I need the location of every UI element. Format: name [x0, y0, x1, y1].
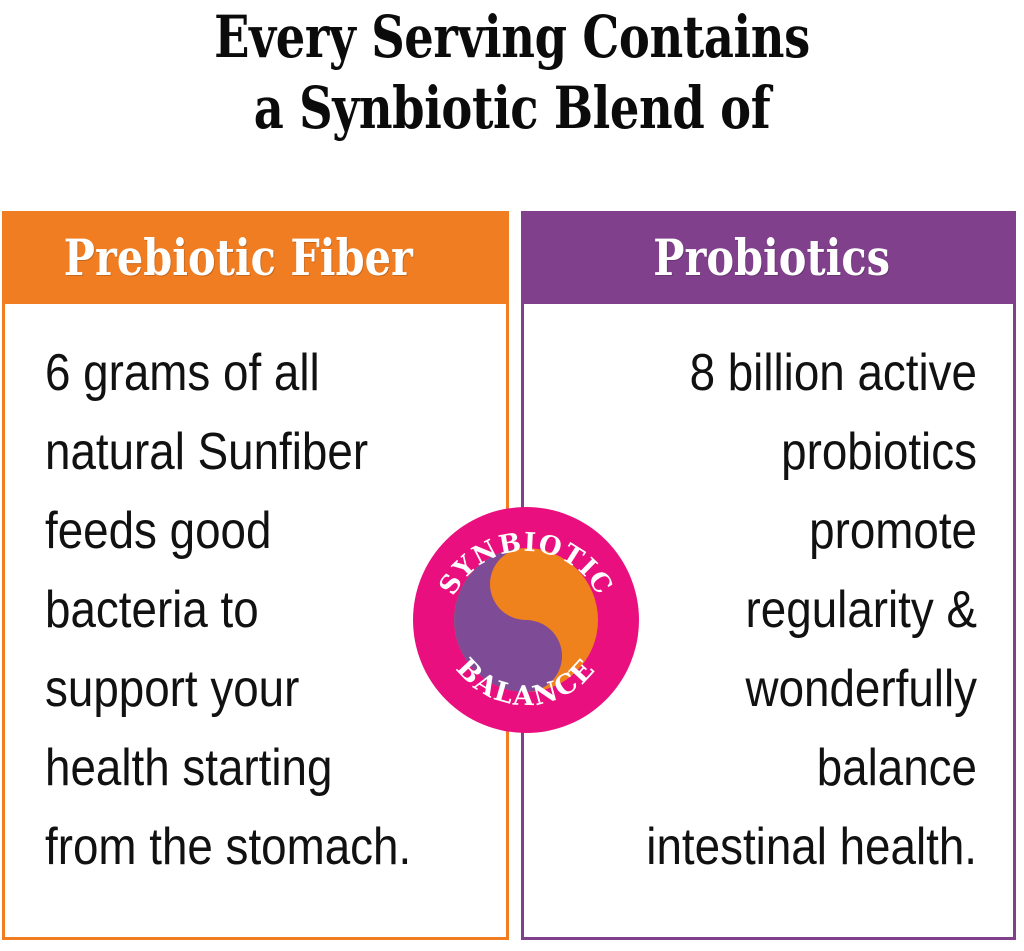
panel-probiotic-body-text: 8 billion active probiotics promote regu…	[584, 334, 977, 887]
title-line-2: a Synbiotic Blend of	[102, 73, 921, 144]
panel-prebiotic-body-text: 6 grams of all natural Sunfiber feeds go…	[45, 334, 445, 887]
title-line-1: Every Serving Contains	[102, 2, 921, 73]
panel-probiotic-header: Probiotics	[521, 211, 1016, 304]
panel-probiotic-header-label: Probiotics	[653, 232, 890, 284]
page-title: Every Serving Contains a Synbiotic Blend…	[0, 0, 1024, 200]
panel-prebiotic-header-label: Prebiotic Fiber	[64, 232, 413, 284]
panel-prebiotic-header: Prebiotic Fiber	[2, 211, 509, 304]
synbiotic-balance-badge-icon: SYNBIOTIC BALANCE	[413, 507, 639, 733]
infographic-root: Every Serving Contains a Synbiotic Blend…	[0, 0, 1024, 951]
